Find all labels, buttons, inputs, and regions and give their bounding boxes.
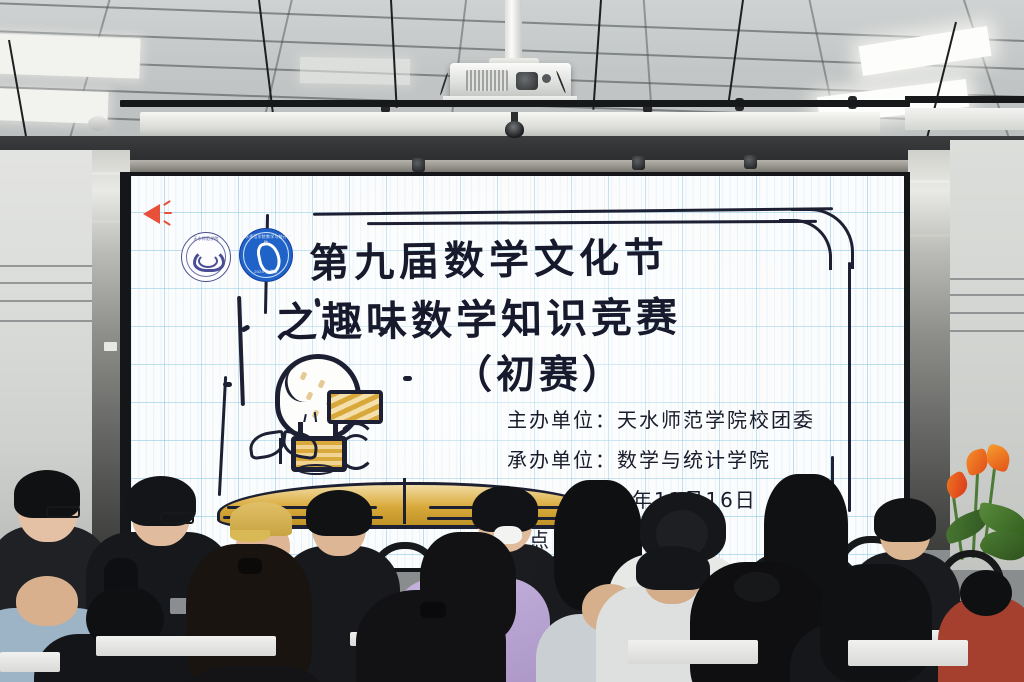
hair-tie [420, 602, 446, 618]
front-desk [848, 640, 968, 666]
front-desk [96, 636, 276, 656]
math-festival-logo: 天水师范学院数学与统计学院 2024 数学节 [239, 228, 293, 282]
spotlight-fixture [632, 156, 645, 170]
projector-knob [542, 74, 551, 83]
front-desk [628, 640, 758, 664]
spotlight-fixture [412, 158, 425, 172]
tianshui-normal-university-logo: 天水师范学院 [181, 232, 231, 282]
head [16, 576, 78, 626]
cap-brim [230, 530, 270, 542]
hair [874, 498, 936, 542]
wall-switch[interactable] [104, 342, 117, 351]
projector-vent [466, 70, 508, 91]
projector-lens [516, 72, 538, 90]
glasses [160, 512, 194, 524]
slide-title-line-1: 第九届数学文化节 [309, 225, 670, 289]
audience-area [0, 440, 1024, 682]
ceiling-speaker [88, 116, 108, 131]
projector-pole-mount [505, 0, 522, 62]
ceiling-track-beam [905, 96, 1024, 103]
header-beam [0, 136, 1024, 162]
front-desk [0, 652, 60, 672]
dome-camera [505, 112, 524, 138]
lightbulb-spark [403, 376, 412, 381]
ceiling-projector [450, 63, 571, 99]
hair-bun [734, 572, 780, 602]
slide-title-line-2: 之趣味数学知识竞赛 [276, 283, 682, 349]
hair [306, 490, 372, 536]
lightbulb-spark [223, 382, 232, 387]
head [960, 570, 1012, 616]
ceiling-light-panel [0, 33, 141, 78]
soffit-panel [905, 108, 1024, 130]
red-triangle-marker [143, 204, 160, 224]
slide-detail-organizer: 主办单位：天水师范学院校团委 [507, 404, 815, 433]
ceiling-light-panel [858, 26, 991, 76]
ceiling-track-beam [120, 100, 910, 107]
hair [636, 546, 710, 590]
spotlight-fixture [744, 155, 757, 169]
note-card-doodle [327, 390, 383, 424]
lecture-hall-photo: 天水师范学院 天水师范学院数学与统计学院 2024 数学节 第九届数学文化节 之… [0, 0, 1024, 682]
glasses [46, 506, 80, 518]
slide-title-line-3: （初赛） [453, 344, 625, 400]
hair-tie [238, 558, 262, 574]
